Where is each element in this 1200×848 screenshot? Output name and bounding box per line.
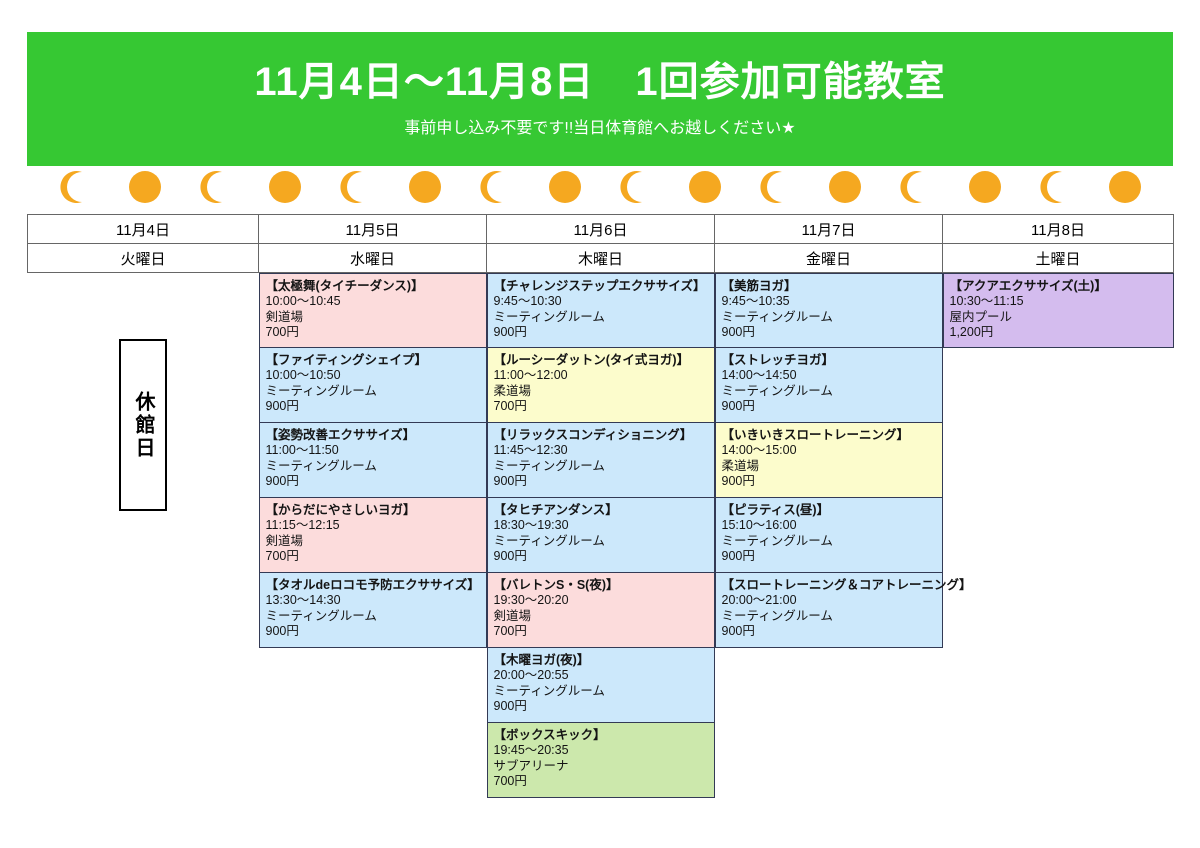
schedule-body-row: 休館日【太極舞(タイチーダンス)】10:00～10:45剣道場700円【ファイテ… [28,273,1174,799]
class-price: 700円 [266,549,480,564]
class-price: 900円 [722,549,936,564]
class-name: 【アクアエクササイズ(土)】 [950,279,1167,294]
column-date-header: 11月5日 [259,215,487,244]
class-card[interactable]: 【リラックスコンディショニング】11:45～12:30ミーティングルーム900円 [487,423,715,498]
day-column-4: 【美筋ヨガ】9:45～10:35ミーティングルーム900円【ストレッチヨガ】14… [715,273,943,799]
class-room: 剣道場 [494,609,708,624]
class-room: 屋内プール [950,310,1167,325]
class-card[interactable]: 【ボックスキック】19:45～20:35サブアリーナ700円 [487,723,715,798]
closed-day-notice: 休館日 [28,273,259,511]
weekly-schedule-table: 11月4日11月5日11月6日11月7日11月8日 火曜日水曜日木曜日金曜日土曜… [27,214,1174,798]
class-price: 900円 [266,399,480,414]
class-card[interactable]: 【タオルdeロコモ予防エクササイズ】13:30～14:30ミーティングルーム90… [259,573,487,648]
class-price: 900円 [266,624,480,639]
crescent-moon-icon [615,167,655,207]
class-room: 柔道場 [494,384,708,399]
class-time: 11:00～12:00 [494,368,708,383]
class-price: 1,200円 [950,325,1167,340]
class-time: 10:30～11:15 [950,294,1167,309]
full-circle-icon [825,167,865,207]
class-room: 剣道場 [266,310,480,325]
full-circle-icon [405,167,445,207]
class-card[interactable]: 【ファイティングシェイプ】10:00～10:50ミーティングルーム900円 [259,348,487,423]
class-name: 【太極舞(タイチーダンス)】 [266,279,480,294]
crescent-moon-icon [55,167,95,207]
class-price: 900円 [722,474,936,489]
header-banner: 11月4日～11月8日 1回参加可能教室 事前申し込み不要です!!当日体育館へお… [27,32,1173,166]
class-name: 【ピラティス(昼)】 [722,503,936,518]
class-card[interactable]: 【木曜ヨガ(夜)】20:00～20:55ミーティングルーム900円 [487,648,715,723]
class-price: 900円 [266,474,480,489]
class-name: 【からだにやさしいヨガ】 [266,503,480,518]
page-subtitle: 事前申し込み不要です!!当日体育館へお越しください★ [404,120,795,138]
class-time: 9:45～10:30 [494,294,708,309]
full-circle-icon [545,167,585,207]
class-card[interactable]: 【太極舞(タイチーダンス)】10:00～10:45剣道場700円 [259,273,487,348]
class-time: 19:30～20:20 [494,593,708,608]
day-column-5: 【アクアエクササイズ(土)】10:30～11:15屋内プール1,200円 [943,273,1174,799]
day-column-3: 【チャレンジステップエクササイズ】9:45～10:30ミーティングルーム900円… [487,273,715,799]
class-room: ミーティングルーム [494,310,708,325]
closed-day-label: 休館日 [133,391,153,460]
schedule-poster: 11月4日～11月8日 1回参加可能教室 事前申し込み不要です!!当日体育館へお… [0,0,1200,848]
class-name: 【スロートレーニング＆コアトレーニング】 [722,578,936,593]
class-name: 【木曜ヨガ(夜)】 [494,653,708,668]
class-time: 10:00～10:45 [266,294,480,309]
column-date-header: 11月7日 [715,215,943,244]
class-time: 15:10～16:00 [722,518,936,533]
class-card[interactable]: 【チャレンジステップエクササイズ】9:45～10:30ミーティングルーム900円 [487,273,715,348]
class-time: 14:00～15:00 [722,443,936,458]
class-price: 900円 [494,474,708,489]
class-time: 11:45～12:30 [494,443,708,458]
crescent-moon-icon [195,167,235,207]
class-room: 剣道場 [266,534,480,549]
date-header-row: 11月4日11月5日11月6日11月7日11月8日 [28,215,1174,244]
column-weekday-header: 水曜日 [259,244,487,273]
class-price: 700円 [266,325,480,340]
class-time: 14:00～14:50 [722,368,936,383]
column-weekday-header: 木曜日 [487,244,715,273]
class-card[interactable]: 【姿勢改善エクササイズ】11:00～11:50ミーティングルーム900円 [259,423,487,498]
class-name: 【バレトンS・S(夜)】 [494,578,708,593]
crescent-moon-icon [1035,167,1075,207]
crescent-moon-icon [755,167,795,207]
class-card[interactable]: 【ストレッチヨガ】14:00～14:50ミーティングルーム900円 [715,348,943,423]
class-room: 柔道場 [722,459,936,474]
class-time: 13:30～14:30 [266,593,480,608]
class-card[interactable]: 【いきいきスロートレーニング】14:00～15:00柔道場900円 [715,423,943,498]
class-name: 【ボックスキック】 [494,728,708,743]
class-time: 11:00～11:50 [266,443,480,458]
class-room: ミーティングルーム [722,609,936,624]
class-room: ミーティングルーム [722,310,936,325]
class-room: ミーティングルーム [266,459,480,474]
moon-and-circle-border [55,164,1145,210]
crescent-moon-icon [475,167,515,207]
class-name: 【姿勢改善エクササイズ】 [266,428,480,443]
full-circle-icon [125,167,165,207]
class-name: 【ストレッチヨガ】 [722,353,936,368]
crescent-moon-icon [895,167,935,207]
crescent-moon-icon [335,167,375,207]
class-room: ミーティングルーム [266,384,480,399]
closed-day-box: 休館日 [119,339,167,511]
class-card[interactable]: 【美筋ヨガ】9:45～10:35ミーティングルーム900円 [715,273,943,348]
class-room: ミーティングルーム [494,684,708,699]
class-name: 【ファイティングシェイプ】 [266,353,480,368]
column-date-header: 11月6日 [487,215,715,244]
class-price: 900円 [722,325,936,340]
day-column-2: 【太極舞(タイチーダンス)】10:00～10:45剣道場700円【ファイティング… [259,273,487,799]
class-time: 10:00～10:50 [266,368,480,383]
class-time: 20:00～21:00 [722,593,936,608]
class-time: 18:30～19:30 [494,518,708,533]
full-circle-icon [685,167,725,207]
class-card[interactable]: 【ルーシーダットン(タイ式ヨガ)】11:00～12:00柔道場700円 [487,348,715,423]
column-date-header: 11月4日 [28,215,259,244]
class-room: ミーティングルーム [494,459,708,474]
class-card[interactable]: 【からだにやさしいヨガ】11:15～12:15剣道場700円 [259,498,487,573]
class-name: 【リラックスコンディショニング】 [494,428,708,443]
page-title: 11月4日～11月8日 1回参加可能教室 [254,60,945,104]
class-name: 【ルーシーダットン(タイ式ヨガ)】 [494,353,708,368]
column-weekday-header: 金曜日 [715,244,943,273]
class-price: 700円 [494,774,708,789]
class-price: 900円 [722,624,936,639]
full-circle-icon [1105,167,1145,207]
day-column-1: 休館日 [28,273,259,799]
class-room: サブアリーナ [494,759,708,774]
column-weekday-header: 土曜日 [943,244,1174,273]
class-price: 900円 [494,549,708,564]
class-room: ミーティングルーム [722,534,936,549]
class-room: ミーティングルーム [494,534,708,549]
class-name: 【タヒチアンダンス】 [494,503,708,518]
class-time: 9:45～10:35 [722,294,936,309]
class-name: 【いきいきスロートレーニング】 [722,428,936,443]
class-price: 700円 [494,399,708,414]
class-price: 900円 [722,399,936,414]
class-card[interactable]: 【ピラティス(昼)】15:10～16:00ミーティングルーム900円 [715,498,943,573]
class-price: 700円 [494,624,708,639]
class-name: 【美筋ヨガ】 [722,279,936,294]
full-circle-icon [265,167,305,207]
class-name: 【タオルdeロコモ予防エクササイズ】 [266,578,480,593]
class-time: 20:00～20:55 [494,668,708,683]
class-name: 【チャレンジステップエクササイズ】 [494,279,708,294]
full-circle-icon [965,167,1005,207]
class-card[interactable]: 【アクアエクササイズ(土)】10:30～11:15屋内プール1,200円 [943,273,1174,348]
class-price: 900円 [494,325,708,340]
class-price: 900円 [494,699,708,714]
class-time: 11:15～12:15 [266,518,480,533]
column-weekday-header: 火曜日 [28,244,259,273]
class-room: ミーティングルーム [722,384,936,399]
class-time: 19:45～20:35 [494,743,708,758]
class-card[interactable]: 【タヒチアンダンス】18:30～19:30ミーティングルーム900円 [487,498,715,573]
class-card[interactable]: 【バレトンS・S(夜)】19:30～20:20剣道場700円 [487,573,715,648]
column-date-header: 11月8日 [943,215,1174,244]
class-card[interactable]: 【スロートレーニング＆コアトレーニング】20:00～21:00ミーティングルーム… [715,573,943,648]
weekday-header-row: 火曜日水曜日木曜日金曜日土曜日 [28,244,1174,273]
class-room: ミーティングルーム [266,609,480,624]
